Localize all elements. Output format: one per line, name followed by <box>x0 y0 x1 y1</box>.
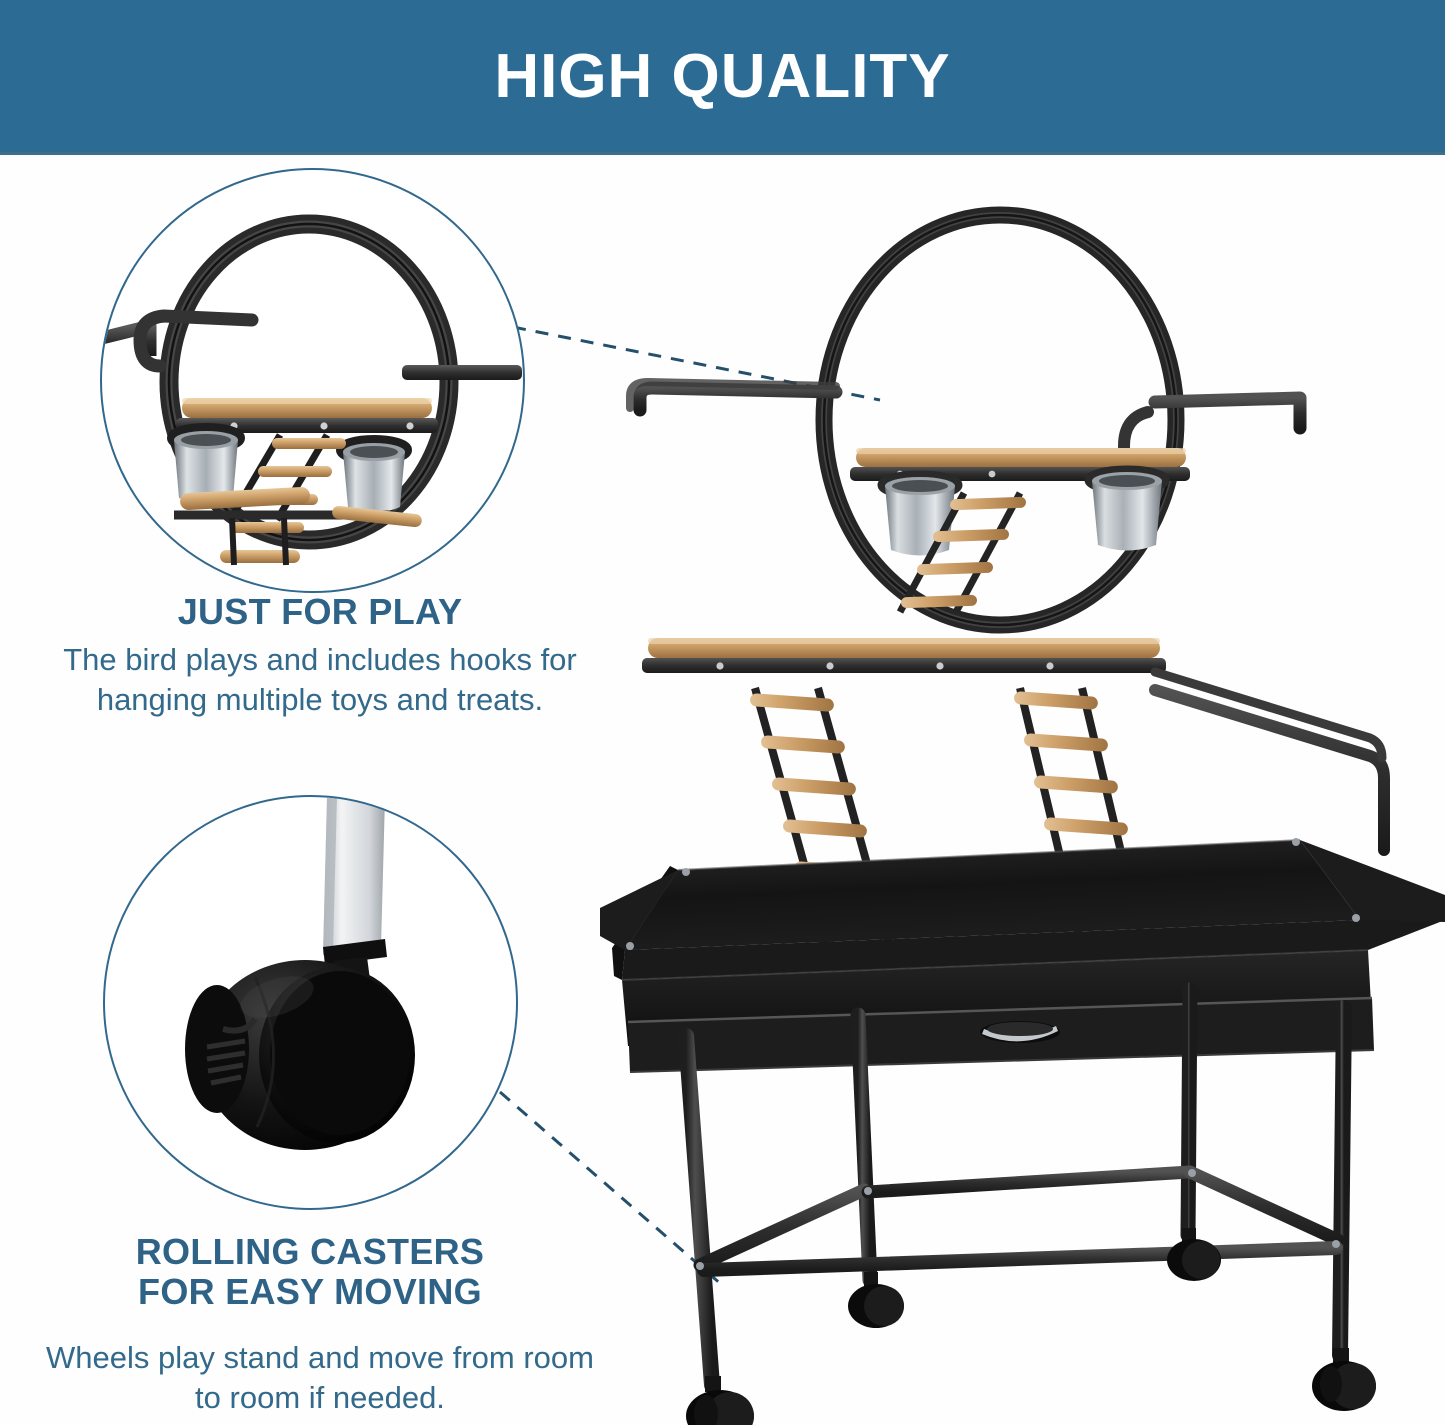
stainless-cup-right <box>1089 470 1165 551</box>
mid-perch-rail <box>642 658 1166 673</box>
caster-wheel-detail-art <box>105 797 518 1210</box>
detail-right-stub <box>402 365 522 380</box>
hanging-hook-left <box>630 382 836 410</box>
caster-wheel-back-left <box>848 1272 904 1328</box>
callout-heading-line1: ROLLING CASTERS <box>136 1231 485 1272</box>
product-illustration <box>600 160 1445 1425</box>
caster-wheel-front-right <box>1312 1348 1376 1411</box>
leg-front-left <box>686 1036 712 1385</box>
callout-heading-line2: FOR EASY MOVING <box>138 1271 482 1312</box>
header-banner: HIGH QUALITY <box>0 0 1445 155</box>
caster-wheel-front-left <box>686 1376 754 1425</box>
crossbar-right <box>1190 1172 1338 1240</box>
leg-back-right <box>1188 990 1190 1235</box>
caster-wheel-back-right <box>1167 1228 1221 1281</box>
hoop-ring <box>824 215 1176 625</box>
detail-wood-perch <box>182 398 432 418</box>
right-side-rail <box>1155 672 1384 850</box>
leg-front-right <box>1340 1008 1344 1355</box>
crossbar-left <box>700 1190 864 1265</box>
detail-stainless-cup-right <box>341 440 407 513</box>
crossbar-back <box>868 1172 1190 1192</box>
hoop-ring-detail-art <box>102 170 525 593</box>
callout-body-rolling-casters: Wheels play stand and move from room to … <box>40 1338 600 1419</box>
callout-circle-rolling-casters <box>103 795 518 1210</box>
page-title: HIGH QUALITY <box>494 41 950 112</box>
drawer-handle[interactable] <box>980 1021 1060 1043</box>
detail-leg-post <box>323 797 387 965</box>
callout-heading-just-for-play: JUST FOR PLAY <box>40 592 600 632</box>
stainless-cup-left <box>882 475 958 556</box>
crossbar-front <box>704 1248 1336 1270</box>
detail-caster-wheel <box>185 960 415 1150</box>
callout-heading-rolling-casters: ROLLING CASTERS FOR EASY MOVING <box>30 1232 590 1313</box>
callout-body-just-for-play: The bird plays and includes hooks for ha… <box>60 640 580 721</box>
wood-perch-top <box>856 448 1186 467</box>
callout-circle-just-for-play <box>100 168 525 593</box>
wood-perch-mid <box>648 638 1160 658</box>
